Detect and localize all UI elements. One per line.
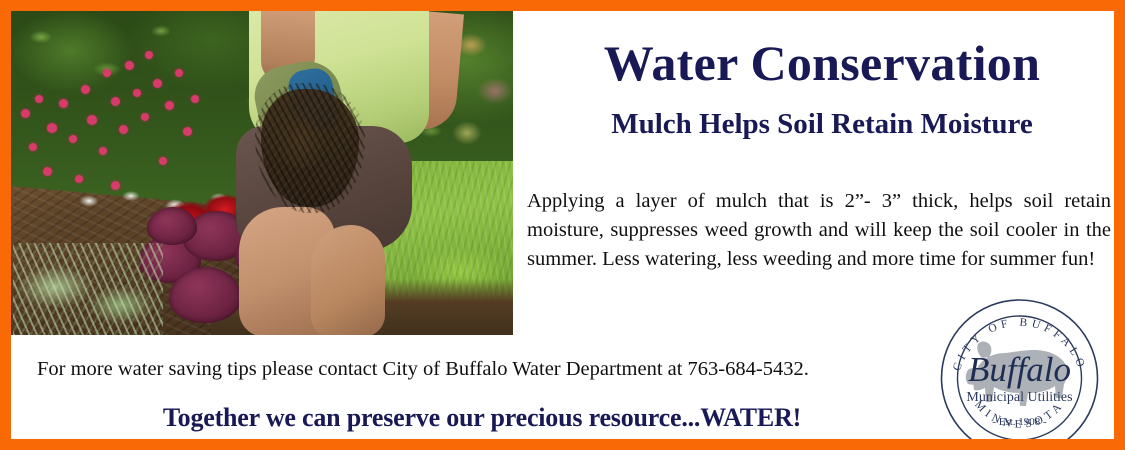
lavender-foliage: [13, 243, 163, 335]
page-subtitle: Mulch Helps Soil Retain Moisture: [531, 108, 1113, 141]
seal-subtext: Municipal Utilities: [966, 390, 1072, 405]
person-right-leg: [311, 225, 385, 335]
flyer-canvas: Water Conservation Mulch Helps Soil Reta…: [11, 11, 1114, 439]
body-paragraph: Applying a layer of mulch that is 2”- 3”…: [527, 187, 1111, 274]
page-title: Water Conservation: [531, 37, 1113, 90]
contact-line: For more water saving tips please contac…: [37, 356, 927, 382]
seal-wordmark: Buffalo: [968, 350, 1071, 389]
tagline: Together we can preserve our precious re…: [37, 403, 927, 433]
water-conservation-flyer: Water Conservation Mulch Helps Soil Reta…: [0, 0, 1125, 450]
gardening-photo: [11, 11, 513, 335]
city-of-buffalo-seal: CITY OF BUFFALO MINNESOTA Buffalo Munici…: [938, 298, 1101, 450]
seal-established: - Est. 1908 -: [992, 416, 1047, 428]
handful-of-mulch: [261, 89, 359, 207]
